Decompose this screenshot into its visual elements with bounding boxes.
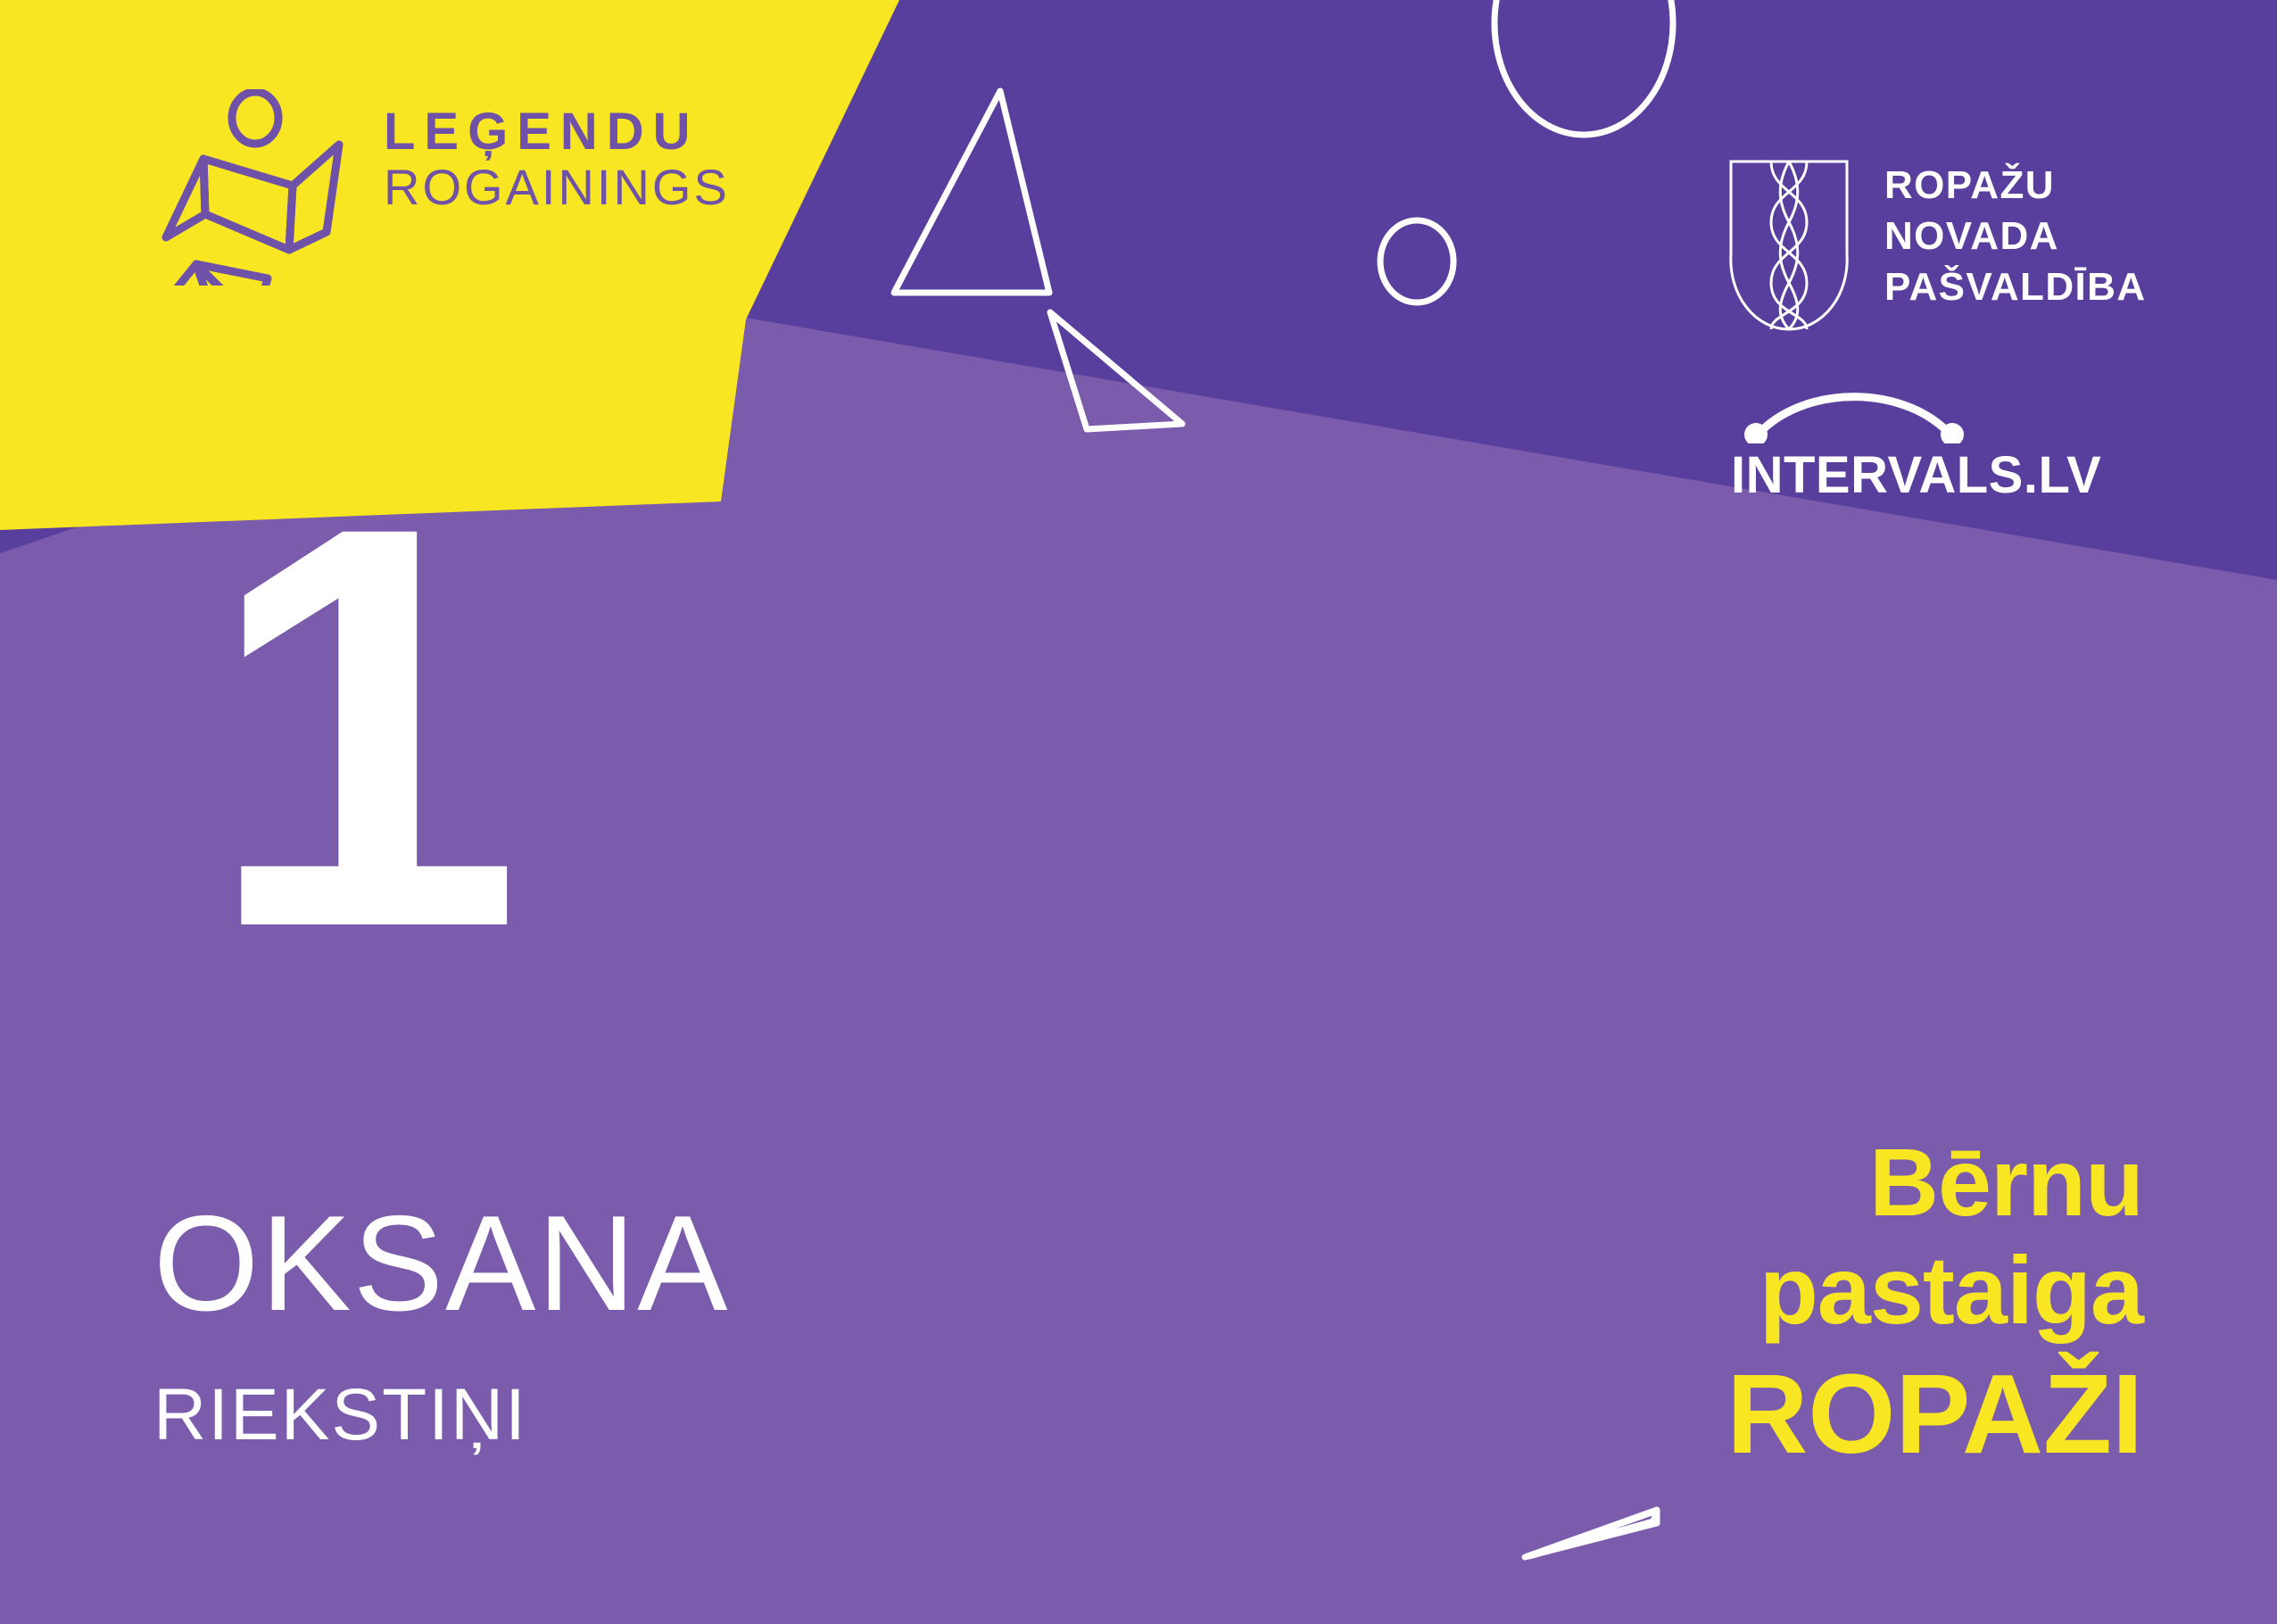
coat-of-arms-braid-shield-icon xyxy=(1722,156,1856,335)
municipality-line3: PAŠVALDĪBA xyxy=(1884,261,2147,312)
interval-arc-icon xyxy=(1738,363,2041,443)
ellipse-outline-icon xyxy=(1495,0,1673,135)
timing-partner-label: INTERVALS.LV xyxy=(1731,445,2101,505)
event-category-line1: Bērnu xyxy=(1726,1129,2143,1237)
ellipse-outline-icon-small xyxy=(1380,220,1453,302)
municipality-line2: NOVADA xyxy=(1884,211,2147,261)
event-location: ROPAŽI xyxy=(1726,1350,2143,1479)
triangle-outline-icon xyxy=(1050,312,1182,429)
bib-number: 1 xyxy=(205,504,517,949)
participant-first-name: OKSANA xyxy=(153,1196,730,1331)
running-person-icon xyxy=(150,89,364,286)
municipality-logo: ROPAŽU NOVADA PAŠVALDĪBA xyxy=(1722,156,2204,352)
poster-canvas: LEĢENDU ROGAININGS ROPAŽU NOVADA PAŠVALD… xyxy=(0,0,2277,1624)
organizer-line1: LEĢENDU xyxy=(384,105,730,160)
triangle-outline-icon xyxy=(894,91,1049,293)
event-category-line2: pastaiga xyxy=(1726,1237,2143,1345)
event-info: Bērnu pastaiga ROPAŽI xyxy=(1726,1129,2143,1479)
organizer-logo: LEĢENDU ROGAININGS xyxy=(150,89,721,286)
triangle-outline-icon-b xyxy=(1525,1510,1657,1557)
timing-partner-logo: INTERVALS.LV xyxy=(1731,370,2150,509)
municipality-line1: ROPAŽU xyxy=(1884,160,2147,211)
organizer-wordmark: LEĢENDU ROGAININGS xyxy=(384,105,730,216)
municipality-wordmark: ROPAŽU NOVADA PAŠVALDĪBA xyxy=(1884,160,2147,313)
participant-last-name: RIEKSTIŅI xyxy=(153,1379,527,1452)
organizer-line2: ROGAININGS xyxy=(384,160,730,216)
